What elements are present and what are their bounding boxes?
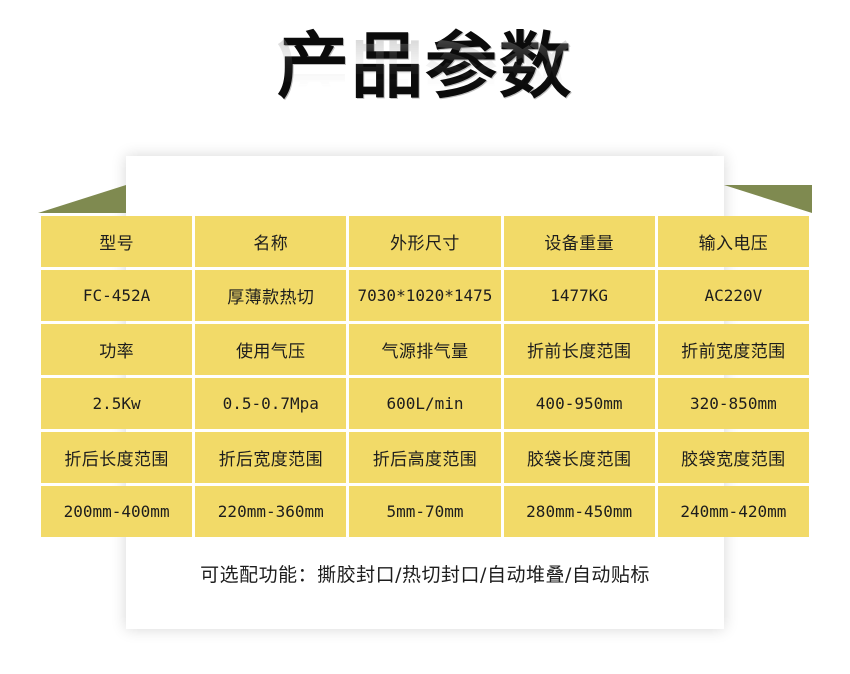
spec-value-cell: 240mm-420mm [658, 486, 809, 537]
spec-value-cell: 220mm-360mm [195, 486, 346, 537]
spec-value-cell: 厚薄款热切 [195, 270, 346, 321]
spec-header-cell: 胶袋宽度范围 [658, 432, 809, 483]
spec-header-cell: 输入电压 [658, 216, 809, 267]
spec-header-row: 型号名称外形尺寸设备重量输入电压 [41, 216, 809, 267]
spec-header-cell: 折后高度范围 [349, 432, 500, 483]
spec-value-cell: 200mm-400mm [41, 486, 192, 537]
optional-functions-note: 可选配功能：撕胶封口/热切封口/自动堆叠/自动贴标 [126, 560, 724, 587]
spec-value-cell: 2.5Kw [41, 378, 192, 429]
spec-value-cell: 7030*1020*1475 [349, 270, 500, 321]
page-title: 产品参数 [0, 26, 850, 106]
ribbon-fold-left-icon [38, 185, 126, 213]
spec-value-cell: 400-950mm [504, 378, 655, 429]
spec-header-cell: 外形尺寸 [349, 216, 500, 267]
spec-value-cell: 320-850mm [658, 378, 809, 429]
spec-value-row: 2.5Kw0.5-0.7Mpa600L/min400-950mm320-850m… [41, 378, 809, 429]
spec-value-cell: 1477KG [504, 270, 655, 321]
spec-header-cell: 折后长度范围 [41, 432, 192, 483]
spec-header-row: 折后长度范围折后宽度范围折后高度范围胶袋长度范围胶袋宽度范围 [41, 432, 809, 483]
page-title-block: 产品参数 产品参数 [0, 26, 850, 156]
spec-header-cell: 功率 [41, 324, 192, 375]
spec-header-row: 功率使用气压气源排气量折前长度范围折前宽度范围 [41, 324, 809, 375]
spec-value-cell: 280mm-450mm [504, 486, 655, 537]
spec-header-cell: 名称 [195, 216, 346, 267]
spec-value-cell: 5mm-70mm [349, 486, 500, 537]
spec-table: 型号名称外形尺寸设备重量输入电压FC-452A厚薄款热切7030*1020*14… [38, 213, 812, 540]
spec-header-cell: 折后宽度范围 [195, 432, 346, 483]
spec-header-cell: 设备重量 [504, 216, 655, 267]
product-spec-page: 产品参数 产品参数 型号名称外形尺寸设备重量输入电压FC-452A厚薄款热切70… [0, 0, 850, 674]
spec-header-cell: 胶袋长度范围 [504, 432, 655, 483]
spec-value-cell: AC220V [658, 270, 809, 321]
spec-header-cell: 型号 [41, 216, 192, 267]
page-title-reflection: 产品参数 [0, 36, 850, 108]
spec-value-row: 200mm-400mm220mm-360mm5mm-70mm280mm-450m… [41, 486, 809, 537]
spec-header-cell: 折前宽度范围 [658, 324, 809, 375]
spec-value-cell: 600L/min [349, 378, 500, 429]
spec-header-cell: 折前长度范围 [504, 324, 655, 375]
spec-value-cell: 0.5-0.7Mpa [195, 378, 346, 429]
spec-value-row: FC-452A厚薄款热切7030*1020*14751477KGAC220V [41, 270, 809, 321]
spec-table-body: 型号名称外形尺寸设备重量输入电压FC-452A厚薄款热切7030*1020*14… [41, 216, 809, 537]
spec-header-cell: 使用气压 [195, 324, 346, 375]
spec-header-cell: 气源排气量 [349, 324, 500, 375]
spec-value-cell: FC-452A [41, 270, 192, 321]
ribbon-fold-right-icon [724, 185, 812, 213]
